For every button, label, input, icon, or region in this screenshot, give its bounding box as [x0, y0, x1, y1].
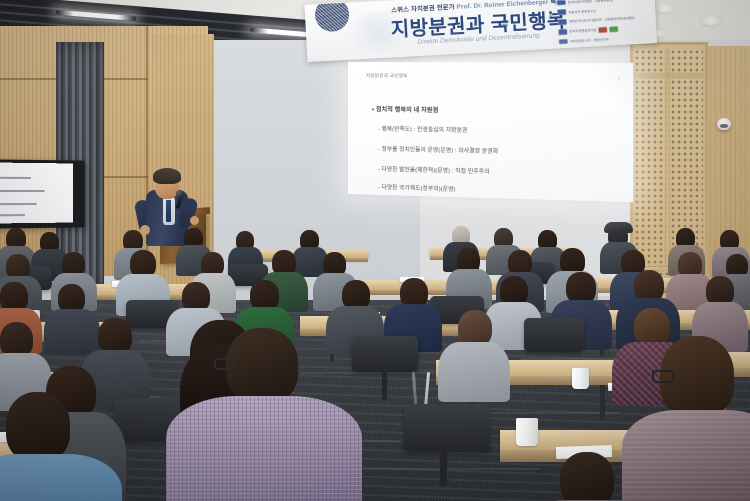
slide-bullet: - 다양한 국가제도(정부의)(운영)	[378, 183, 456, 193]
speaker-left-hand	[140, 225, 150, 235]
paper-cup	[516, 418, 538, 446]
recessed-round-light	[655, 4, 675, 12]
sponsor-logo-row: 국회입법조사처 · 행정안전부	[559, 34, 651, 45]
sponsor-mark-icon	[558, 29, 567, 35]
desk-leg	[600, 385, 605, 419]
person-torso	[44, 309, 100, 355]
chair-leg	[382, 372, 387, 400]
slide-header: 지방분권과 국민행복	[366, 73, 408, 79]
slide-page-number: 7	[617, 75, 619, 80]
slide-bullet: - 다양한 발전을(제한적)(운영) : 직접 민주주의	[378, 165, 490, 176]
sponsor-label: 대한민국시도지사협의회 · 지방분권개헌국민행동	[569, 16, 635, 25]
lecture-hall-photograph: 스위스 자치분권 전문가 Prof. Dr. Reiner Eichenberg…	[0, 0, 750, 501]
projection-screen: 지방분권과 국민행복 7 • 정치적 행복의 네 차원점 - 행복(만족도) :…	[348, 62, 633, 202]
slide-bullet: • 정치적 행복의 네 차원점	[372, 104, 438, 114]
sponsor-label: 한국지방행정연구원	[569, 28, 596, 34]
chair	[404, 404, 490, 452]
person-torso	[166, 396, 362, 501]
sponsor-badge-green-icon	[609, 26, 618, 32]
chair	[352, 336, 418, 372]
eyeglasses	[652, 370, 674, 383]
sponsor-mark-icon	[559, 39, 568, 45]
recessed-round-light	[700, 16, 722, 25]
person-head	[560, 452, 614, 501]
ceiling-dome-camera	[717, 118, 731, 130]
sponsor-label: 지방자치 분권연구소	[568, 8, 596, 15]
speaker-hair	[153, 168, 181, 184]
sponsor-label: 한국지방자치학회 · 지방분권운동	[568, 0, 613, 4]
sponsor-mark-icon	[558, 19, 567, 25]
paper-cup	[572, 368, 589, 389]
speaker-right-hand	[190, 216, 199, 225]
sponsor-mark-icon	[557, 9, 566, 15]
slide-bullet: - 정부를 정치인들이 운영(운영) : 의사결정 분권화	[378, 145, 498, 156]
person-head	[226, 328, 298, 404]
sponsor-label: 국회입법조사처 · 행정안전부	[570, 37, 609, 44]
eyeglasses	[214, 358, 234, 370]
banner-sponsor-logos: 한국지방자치학회 · 지방분권운동 지방자치 분권연구소 대한민국시도지사협의회…	[557, 0, 651, 45]
person-torso	[622, 410, 750, 501]
chair	[524, 318, 584, 352]
sponsor-badge-red-icon	[598, 27, 607, 33]
slide-bullet: - 행복(만족도) : 민생중심의 지방분권	[378, 124, 468, 134]
person-head	[6, 392, 70, 462]
microphone-head-icon	[176, 190, 183, 197]
person-torso	[438, 342, 510, 402]
side-monitor-screen	[0, 163, 73, 224]
sponsor-mark-icon	[557, 0, 566, 5]
chair-leg	[440, 452, 447, 486]
speaker-tie	[166, 200, 171, 222]
flat-cap	[604, 222, 633, 233]
